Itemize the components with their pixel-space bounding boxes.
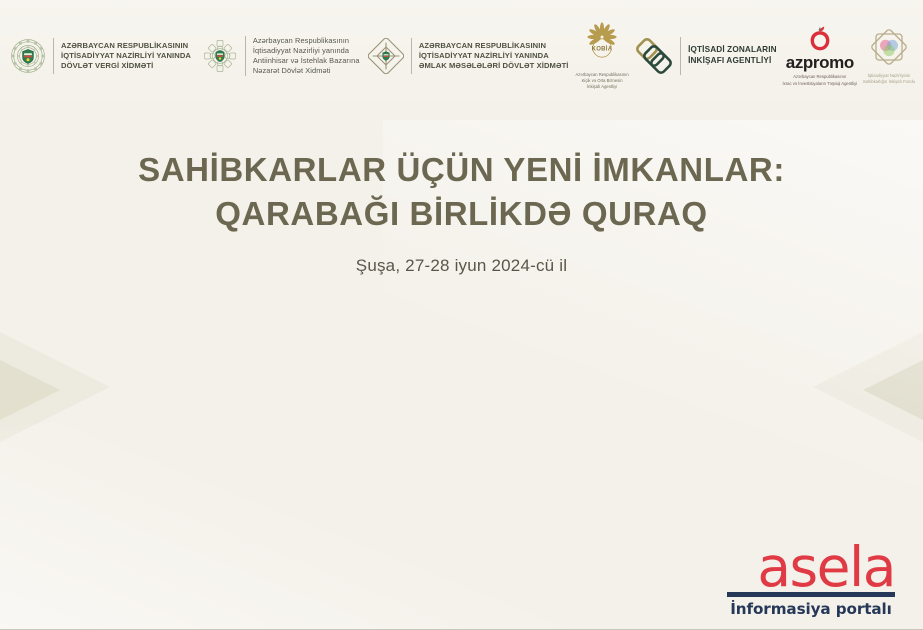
- logo-divider: [411, 38, 412, 74]
- logo-kobia: KOBİA Azərbaycan Respublikasının Kiçik v…: [576, 22, 629, 89]
- logo-label: Azərbaycan Respublikasının İqtisadiyyat …: [253, 36, 360, 75]
- page-title-line-2: QARABAĞI BİRLİKDƏ QURAQ: [0, 192, 923, 236]
- logo-divider: [245, 36, 246, 75]
- poster-canvas: AZƏRBAYCAN RESPUBLİKASININ İQTİSADİYYAT …: [0, 0, 923, 630]
- logo-divider: [680, 37, 681, 75]
- logo-caption: İqtisadiyyat Nazirliyinin Sahibkarlığın …: [863, 73, 915, 85]
- page-title-line-1: SAHİBKARLAR ÜÇÜN YENİ İMKANLAR:: [0, 148, 923, 192]
- asela-wordmark: asela: [727, 544, 895, 591]
- asela-tagline: İnformasiya portalı: [727, 600, 895, 618]
- logo-emlak-meseleleri: AZƏRBAYCAN RESPUBLİKASININ İQTİSADİYYAT …: [368, 38, 569, 74]
- sunburst-flower-emblem-icon: KOBİA: [576, 22, 628, 70]
- logo-label: AZƏRBAYCAN RESPUBLİKASININ İQTİSADİYYAT …: [419, 41, 569, 71]
- floral-lattice-emblem-icon: [202, 38, 238, 74]
- chevron-left-inner: [0, 272, 110, 502]
- asela-logo: asela İnformasiya portalı: [727, 544, 895, 618]
- event-date-location: Şuşa, 27-28 iyun 2024-cü il: [0, 256, 923, 276]
- title-block: SAHİBKARLAR ÜÇÜN YENİ İMKANLAR: QARABAĞI…: [0, 148, 923, 276]
- chevron-right-outer: [883, 272, 923, 502]
- logo-caption: Azərbaycan Respublikasının İxrac və İnve…: [782, 74, 857, 86]
- logo-label: İQTİSADİ ZONALARIN İNKİŞAFI AGENTLİYİ: [688, 45, 777, 67]
- logo-dovlet-vergi-xidmeti: AZƏRBAYCAN RESPUBLİKASININ İQTİSADİYYAT …: [10, 38, 191, 74]
- chevron-left-small: [0, 330, 60, 450]
- logo-caption: Azərbaycan Respublikasının Kiçik və Orta…: [576, 72, 629, 89]
- chevron-right-small: [863, 330, 923, 450]
- logo-iqtisadi-zonalarin-inkisafi: İQTİSADİ ZONALARIN İNKİŞAFI AGENTLİYİ: [635, 37, 777, 75]
- interlocking-squares-emblem-icon: [368, 38, 404, 74]
- eight-point-star-emblem-icon: [866, 27, 912, 71]
- chevron-left-outer: [0, 272, 40, 502]
- sheen-left: [0, 369, 596, 630]
- logo-wordmark: azpromo: [786, 54, 854, 71]
- partner-logo-strip: AZƏRBAYCAN RESPUBLİKASININ İQTİSADİYYAT …: [0, 0, 923, 112]
- logo-azpromo: azpromo Azərbaycan Respublikasının İxrac…: [782, 25, 857, 86]
- pomegranate-emblem-icon: [805, 25, 835, 53]
- logo-label: AZƏRBAYCAN RESPUBLİKASININ İQTİSADİYYAT …: [61, 41, 191, 71]
- circular-ornament-emblem-icon: [10, 38, 46, 74]
- logo-divider: [53, 38, 54, 74]
- logo-sahibkarliq-fondu: İqtisadiyyat Nazirliyinin Sahibkarlığın …: [863, 27, 915, 85]
- logo-antiinhisar-nezaret: Azərbaycan Respublikasının İqtisadiyyat …: [202, 36, 360, 75]
- chevron-right-inner: [813, 272, 923, 502]
- interlocking-diamonds-emblem-icon: [635, 37, 673, 75]
- svg-text:KOBİA: KOBİA: [592, 46, 613, 53]
